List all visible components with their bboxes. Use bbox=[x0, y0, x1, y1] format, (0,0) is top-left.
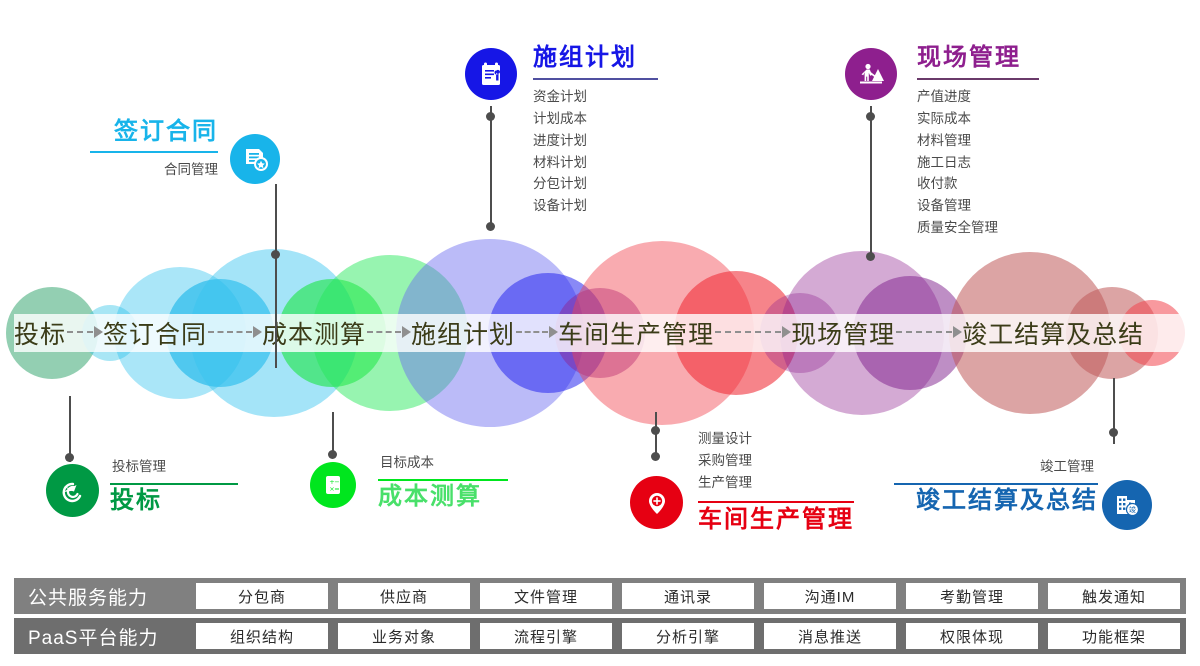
infographic-canvas: 投标签订合同成本测算施组计划车间生产管理现场管理竣工结算及总结 签订合同 合同管… bbox=[0, 0, 1200, 666]
callout-item: 分包计划 bbox=[533, 173, 658, 195]
target-dart-icon[interactable] bbox=[46, 464, 99, 517]
capability-table: 公共服务能力分包商供应商文件管理通讯录沟通IM考勤管理触发通知PaaS平台能力组… bbox=[14, 578, 1186, 654]
callout-title-sign-contract: 签订合同 bbox=[90, 120, 218, 144]
flow-arrow-icon bbox=[515, 326, 558, 340]
callout-title-site-management: 现场管理 bbox=[917, 46, 1039, 70]
capability-cell[interactable]: 功能框架 bbox=[1048, 623, 1180, 649]
callout-item: 材料管理 bbox=[917, 130, 1039, 152]
flow-step-3[interactable]: 成本测算 bbox=[262, 315, 366, 351]
callout-item: 收付款 bbox=[917, 173, 1039, 195]
callout-item: 生产管理 bbox=[698, 472, 854, 494]
callout-item: 设备计划 bbox=[533, 195, 658, 217]
callout-title-bidding: 投标 bbox=[110, 489, 238, 513]
capability-cell[interactable]: 供应商 bbox=[338, 583, 470, 609]
capability-cell[interactable]: 通讯录 bbox=[622, 583, 754, 609]
leader-dot bbox=[65, 453, 74, 462]
capability-cell[interactable]: 触发通知 bbox=[1048, 583, 1180, 609]
callout-item: 进度计划 bbox=[533, 130, 658, 152]
flow-step-6[interactable]: 现场管理 bbox=[791, 315, 895, 351]
leader-dot bbox=[271, 250, 280, 259]
leader-dot bbox=[866, 112, 875, 121]
capability-cell[interactable]: 文件管理 bbox=[480, 583, 612, 609]
callout-item: 竣工管理 bbox=[894, 456, 1098, 478]
callout-divider bbox=[917, 78, 1039, 80]
callout-title-completion-settlement: 竣工结算及总结 bbox=[894, 489, 1098, 513]
flow-step-2[interactable]: 签订合同 bbox=[103, 315, 207, 351]
callout-item: 材料计划 bbox=[533, 152, 658, 174]
leader-line bbox=[490, 106, 492, 228]
callout-item: 目标成本 bbox=[378, 452, 508, 474]
callout-divider bbox=[698, 501, 854, 503]
callout-title-cost-estimate: 成本测算 bbox=[378, 485, 508, 509]
building-complete-icon[interactable]: 竣 bbox=[1102, 480, 1152, 530]
process-flow-bar: 投标签订合同成本测算施组计划车间生产管理现场管理竣工结算及总结 bbox=[14, 314, 1186, 352]
capability-cell[interactable]: 沟通IM bbox=[764, 583, 896, 609]
flow-arrow-icon bbox=[714, 326, 791, 340]
leader-dot bbox=[328, 450, 337, 459]
callout-divider bbox=[90, 151, 218, 153]
callout-item: 计划成本 bbox=[533, 108, 658, 130]
capability-cell-group: 组织结构业务对象流程引擎分析引擎消息推送权限体现功能框架 bbox=[190, 618, 1186, 654]
contract-document-icon[interactable] bbox=[230, 134, 280, 184]
callout-item: 实际成本 bbox=[917, 108, 1039, 130]
callout-divider bbox=[378, 479, 508, 481]
callout-item: 施工日志 bbox=[917, 152, 1039, 174]
capability-cell-group: 分包商供应商文件管理通讯录沟通IM考勤管理触发通知 bbox=[190, 578, 1186, 614]
callout-item: 产值进度 bbox=[917, 86, 1039, 108]
capability-row-label: 公共服务能力 bbox=[14, 578, 190, 614]
leader-dot bbox=[486, 112, 495, 121]
flow-step-4[interactable]: 施组计划 bbox=[411, 315, 515, 351]
capability-cell[interactable]: 业务对象 bbox=[338, 623, 470, 649]
flow-arrow-icon bbox=[207, 326, 262, 340]
calculator-icon[interactable]: + − × = bbox=[310, 462, 356, 508]
capability-cell[interactable]: 考勤管理 bbox=[906, 583, 1038, 609]
callout-item-list: 资金计划 计划成本 进度计划 材料计划 分包计划 设备计划 bbox=[533, 86, 658, 217]
flow-step-5[interactable]: 车间生产管理 bbox=[558, 315, 714, 351]
callout-item-list: 产值进度 实际成本 材料管理 施工日志 收付款 设备管理 质量安全管理 bbox=[917, 86, 1039, 239]
construction-worker-icon[interactable] bbox=[845, 48, 897, 100]
capability-cell[interactable]: 流程引擎 bbox=[480, 623, 612, 649]
callout-divider bbox=[533, 78, 658, 80]
location-pin-plus-icon[interactable] bbox=[630, 476, 683, 529]
capability-cell[interactable]: 分析引擎 bbox=[622, 623, 754, 649]
callout-title-construction-plan: 施组计划 bbox=[533, 46, 658, 70]
flow-arrow-icon bbox=[366, 326, 411, 340]
leader-dot bbox=[866, 252, 875, 261]
leader-dot bbox=[1109, 428, 1118, 437]
flow-step-7[interactable]: 竣工结算及总结 bbox=[962, 315, 1144, 351]
callout-item: 质量安全管理 bbox=[917, 217, 1039, 239]
flow-step-1[interactable]: 投标 bbox=[14, 315, 66, 351]
capability-row-label: PaaS平台能力 bbox=[14, 618, 190, 654]
leader-dot bbox=[486, 222, 495, 231]
callout-item: 合同管理 bbox=[90, 159, 218, 181]
callout-item: 资金计划 bbox=[533, 86, 658, 108]
flow-arrow-icon bbox=[895, 326, 962, 340]
callout-title-workshop-production: 车间生产管理 bbox=[698, 508, 854, 532]
capability-cell[interactable]: 权限体现 bbox=[906, 623, 1038, 649]
leader-dot bbox=[651, 426, 660, 435]
capability-cell[interactable]: 组织结构 bbox=[196, 623, 328, 649]
capability-row: PaaS平台能力组织结构业务对象流程引擎分析引擎消息推送权限体现功能框架 bbox=[14, 618, 1186, 654]
capability-row: 公共服务能力分包商供应商文件管理通讯录沟通IM考勤管理触发通知 bbox=[14, 578, 1186, 614]
callout-divider bbox=[110, 483, 238, 485]
leader-line bbox=[870, 106, 872, 258]
callout-item: 采购管理 bbox=[698, 450, 854, 472]
callout-item: 测量设计 bbox=[698, 428, 854, 450]
callout-item: 设备管理 bbox=[917, 195, 1039, 217]
capability-cell[interactable]: 消息推送 bbox=[764, 623, 896, 649]
clipboard-tools-icon[interactable] bbox=[465, 48, 517, 100]
leader-dot bbox=[651, 452, 660, 461]
callout-item: 投标管理 bbox=[110, 456, 238, 478]
callout-divider bbox=[894, 483, 1098, 485]
svg-text:竣: 竣 bbox=[1129, 505, 1136, 514]
flow-arrow-icon bbox=[66, 326, 103, 340]
capability-cell[interactable]: 分包商 bbox=[196, 583, 328, 609]
svg-text:=: = bbox=[334, 485, 339, 493]
leader-line bbox=[275, 184, 277, 368]
